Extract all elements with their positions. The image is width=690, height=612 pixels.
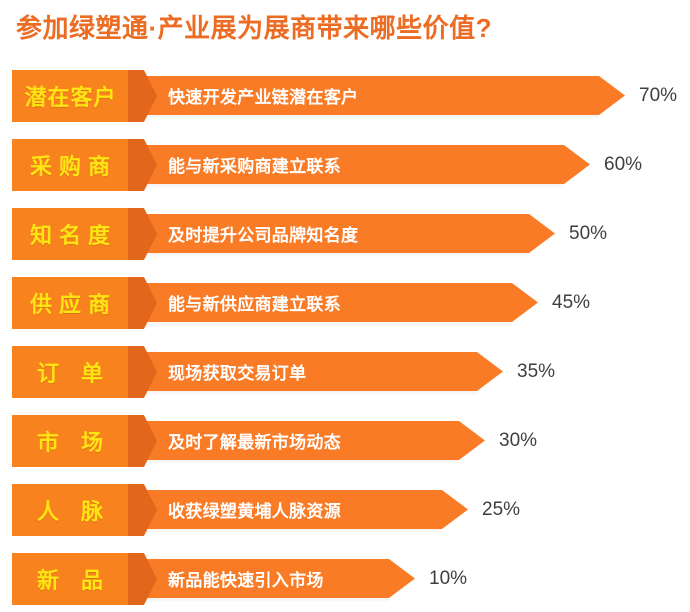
bar-description-label: 能与新采购商建立联系	[168, 145, 341, 184]
bar-description-label: 现场获取交易订单	[168, 352, 306, 391]
category-label-text: 订单	[12, 346, 128, 398]
category-label-box[interactable]: 市场	[12, 415, 145, 467]
value-percent-label: 50%	[569, 214, 607, 253]
bar-description-label: 快速开发产业链潜在客户	[168, 76, 358, 115]
category-label-box[interactable]: 潜在客户	[12, 70, 145, 122]
value-percent-label: 25%	[482, 490, 520, 529]
value-bar[interactable]: 现场获取交易订单	[142, 352, 503, 391]
value-percent-label: 60%	[604, 145, 642, 184]
bar-shadow	[142, 460, 459, 464]
value-bar[interactable]: 能与新供应商建立联系	[142, 283, 538, 322]
bar-shadow	[142, 391, 477, 395]
bar-shadow	[142, 598, 389, 602]
chart-row: 及时提升公司品牌知名度知名度50%	[0, 198, 690, 267]
value-bar[interactable]: 快速开发产业链潜在客户	[142, 76, 625, 115]
chart-row: 能与新供应商建立联系供应商45%	[0, 267, 690, 336]
chart-row: 现场获取交易订单订单35%	[0, 336, 690, 405]
chart-row: 新品能快速引入市场新品10%	[0, 543, 690, 612]
bar-description-label: 及时提升公司品牌知名度	[168, 214, 358, 253]
bar-shadow	[142, 322, 512, 326]
category-label-text: 潜在客户	[12, 70, 128, 122]
bar-description-label: 收获绿塑黄埔人脉资源	[168, 490, 341, 529]
bar-description-label: 新品能快速引入市场	[168, 559, 324, 598]
value-percent-label: 10%	[429, 559, 467, 598]
value-bar[interactable]: 及时了解最新市场动态	[142, 421, 485, 460]
value-percent-label: 45%	[552, 283, 590, 322]
value-bar[interactable]: 新品能快速引入市场	[142, 559, 415, 598]
category-label-box[interactable]: 供应商	[12, 277, 145, 329]
category-label-box[interactable]: 新品	[12, 553, 145, 605]
category-label-box[interactable]: 采购商	[12, 139, 145, 191]
value-percent-label: 70%	[639, 76, 677, 115]
bar-description-label: 能与新供应商建立联系	[168, 283, 341, 322]
value-bar[interactable]: 及时提升公司品牌知名度	[142, 214, 555, 253]
category-label-text: 供应商	[12, 277, 128, 329]
chart-row: 能与新采购商建立联系采购商60%	[0, 129, 690, 198]
value-bar[interactable]: 收获绿塑黄埔人脉资源	[142, 490, 468, 529]
bar-description-label: 及时了解最新市场动态	[168, 421, 341, 460]
bar-chart-rows: 快速开发产业链潜在客户潜在客户70%能与新采购商建立联系采购商60%及时提升公司…	[0, 60, 690, 612]
category-label-box[interactable]: 订单	[12, 346, 145, 398]
value-percent-label: 35%	[517, 352, 555, 391]
category-label-text: 人脉	[12, 484, 128, 536]
page-title: 参加绿塑通·产业展为展商带来哪些价值?	[16, 8, 676, 48]
chart-row: 收获绿塑黄埔人脉资源人脉25%	[0, 474, 690, 543]
value-percent-label: 30%	[499, 421, 537, 460]
category-label-text: 采购商	[12, 139, 128, 191]
chart-row: 快速开发产业链潜在客户潜在客户70%	[0, 60, 690, 129]
category-label-text: 知名度	[12, 208, 128, 260]
category-label-text: 市场	[12, 415, 128, 467]
value-bar[interactable]: 能与新采购商建立联系	[142, 145, 590, 184]
chart-row: 及时了解最新市场动态市场30%	[0, 405, 690, 474]
bar-shadow	[142, 115, 599, 119]
bar-shadow	[142, 529, 442, 533]
category-label-text: 新品	[12, 553, 128, 605]
bar-shadow	[142, 253, 529, 257]
bar-shadow	[142, 184, 564, 188]
category-label-box[interactable]: 知名度	[12, 208, 145, 260]
category-label-box[interactable]: 人脉	[12, 484, 145, 536]
